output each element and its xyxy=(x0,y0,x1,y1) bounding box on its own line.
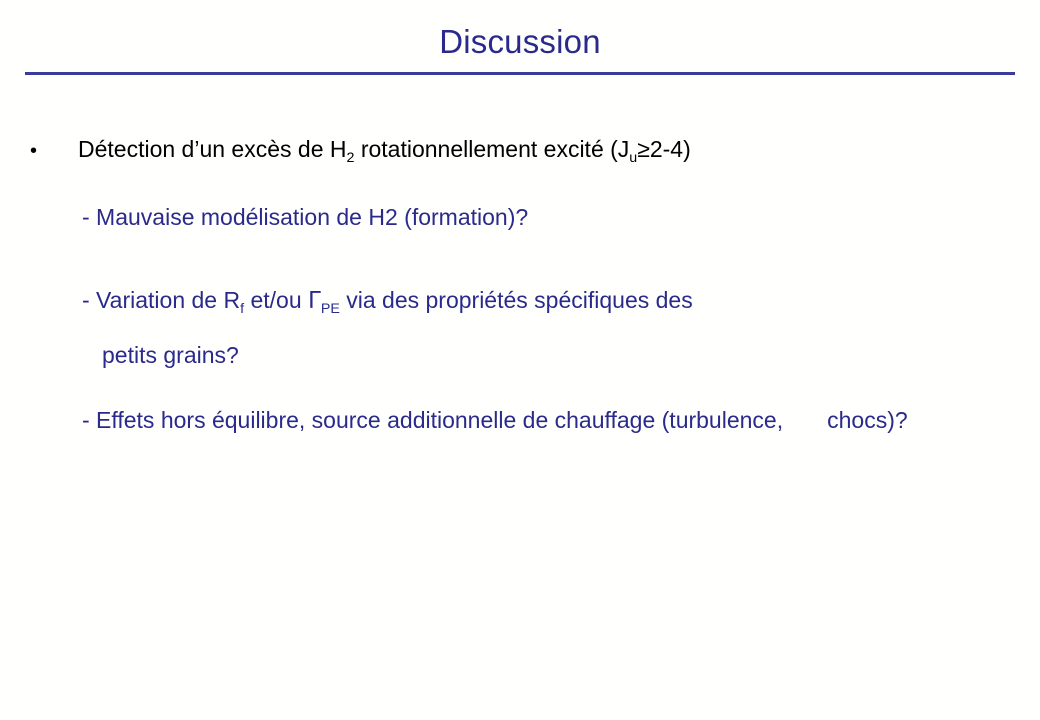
bullet-text-part-2: rotationnellement excité (J xyxy=(354,136,629,162)
sub-line-effets: - Effets hors équilibre, source addition… xyxy=(82,405,908,435)
sub-line-variation-subscript-f: f xyxy=(240,301,244,317)
bullet-subscript-ju: u xyxy=(629,150,637,166)
sub-line-formation-text: - Mauvaise modélisation de H2 (formation… xyxy=(82,204,528,230)
bullet-marker-icon: • xyxy=(30,136,78,166)
gamma-symbol-icon: Γ xyxy=(308,288,321,314)
sub-line-variation-part-3: via des propriétés spécifiques des xyxy=(340,287,693,313)
bullet-item-detection: •Détection d’un excès de H2 rotationnell… xyxy=(30,134,691,166)
slide-root: Discussion •Détection d’un excès de H2 r… xyxy=(0,0,1040,720)
bullet-subscript-h2: 2 xyxy=(347,150,355,166)
sub-line-formation: - Mauvaise modélisation de H2 (formation… xyxy=(82,202,528,232)
sub-line-variation-subscript-pe: PE xyxy=(321,301,340,317)
sub-line-effets-part-2: chocs)? xyxy=(827,407,908,433)
sub-line-effets-part-1: - Effets hors équilibre, source addition… xyxy=(82,407,783,433)
sub-line-petits-grains: petits grains? xyxy=(102,340,239,370)
bullet-text-part-3: ≥2-4) xyxy=(637,136,691,162)
slide-body: •Détection d’un excès de H2 rotationnell… xyxy=(0,0,1040,720)
sub-line-variation-part-1: - Variation de R xyxy=(82,287,240,313)
sub-line-variation-part-2: et/ou xyxy=(244,287,308,313)
sub-line-petits-grains-text: petits grains? xyxy=(102,342,239,368)
bullet-text-part-1: Détection d’un excès de H xyxy=(78,136,347,162)
sub-line-variation: - Variation de Rf et/ou ΓPE via des prop… xyxy=(82,285,693,316)
bullet-item-detection-text: Détection d’un excès de H2 rotationnelle… xyxy=(78,134,691,164)
